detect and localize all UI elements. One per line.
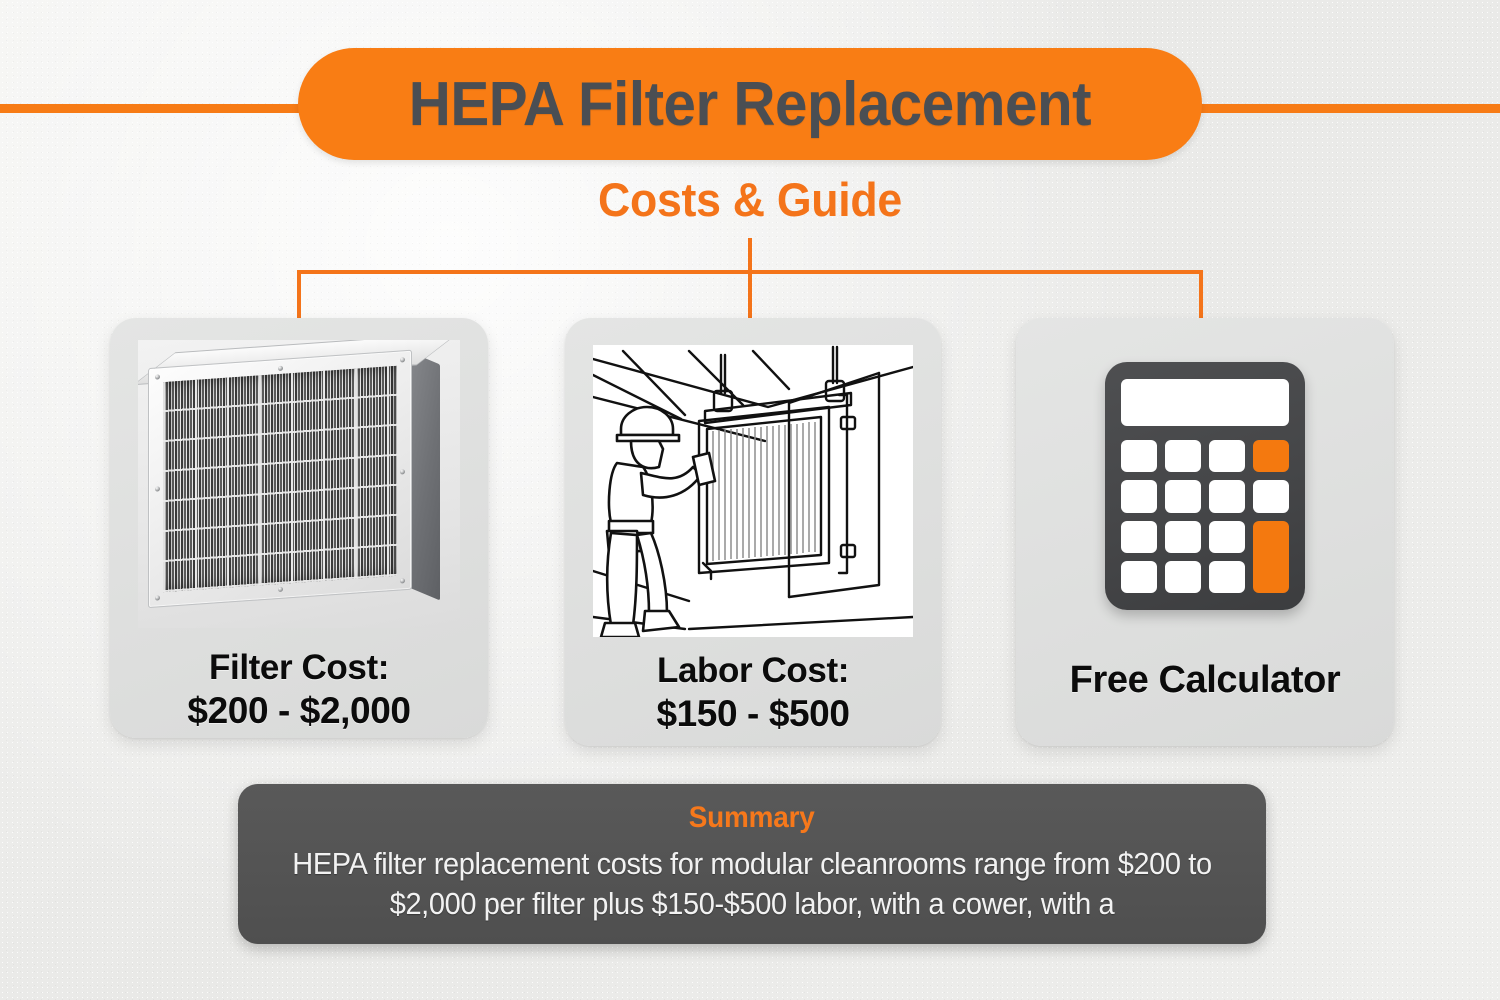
calculator-key [1165,480,1201,512]
calculator-display [1121,379,1289,426]
connector-stem [748,238,752,272]
technician-installing-filter-illustration [593,345,913,637]
card-filter-cost-caption: Filter Cost: $200 - $2,000 [110,648,488,732]
hepa-filter-photo [138,340,460,628]
card-free-calculator-label: Free Calculator [1016,658,1394,702]
card-labor-cost-value: $150 - $500 [565,692,941,735]
card-filter-cost[interactable]: Filter Cost: $200 - $2,000 [110,318,488,738]
calculator-key [1121,480,1157,512]
header-rule-right [1180,104,1500,113]
calculator-key [1121,561,1157,593]
calculator-key [1121,521,1157,553]
calculator-key [1209,521,1245,553]
infographic-canvas: HEPA Filter Replacement Costs & Guide [0,0,1500,1000]
calculator-icon [1016,362,1394,610]
card-labor-cost-label: Labor Cost: [565,651,941,692]
calculator-key-accent [1253,440,1289,472]
title-banner: HEPA Filter Replacement [298,48,1202,160]
page-title: HEPA Filter Replacement [409,69,1091,140]
calculator-key [1165,440,1201,472]
calculator-key [1209,480,1245,512]
card-free-calculator-caption: Free Calculator [1016,658,1394,702]
summary-panel: Summary HEPA filter replacement costs fo… [238,784,1266,944]
calculator-key [1209,440,1245,472]
connector-drop-left [297,270,301,320]
calculator-key [1121,440,1157,472]
calculator-key [1165,561,1201,593]
card-free-calculator[interactable]: Free Calculator [1016,318,1394,746]
card-labor-cost-caption: Labor Cost: $150 - $500 [565,651,941,735]
calculator-key [1253,480,1289,512]
connector-drop-right [1199,270,1203,320]
calculator-key-equals [1253,521,1289,594]
connector-drop-center [748,270,752,320]
calculator-key [1165,521,1201,553]
header-rule-left [0,104,320,113]
card-filter-cost-value: $200 - $2,000 [110,689,488,732]
calculator-key [1209,561,1245,593]
card-labor-cost[interactable]: Labor Cost: $150 - $500 [565,318,941,746]
page-subtitle: Costs & Guide [38,172,1463,227]
card-filter-cost-label: Filter Cost: [110,648,488,689]
technician-line-art [593,345,913,637]
summary-body-text: HEPA filter replacement costs for modula… [264,844,1241,925]
summary-title: Summary [689,801,815,835]
calculator-keypad [1121,440,1289,593]
